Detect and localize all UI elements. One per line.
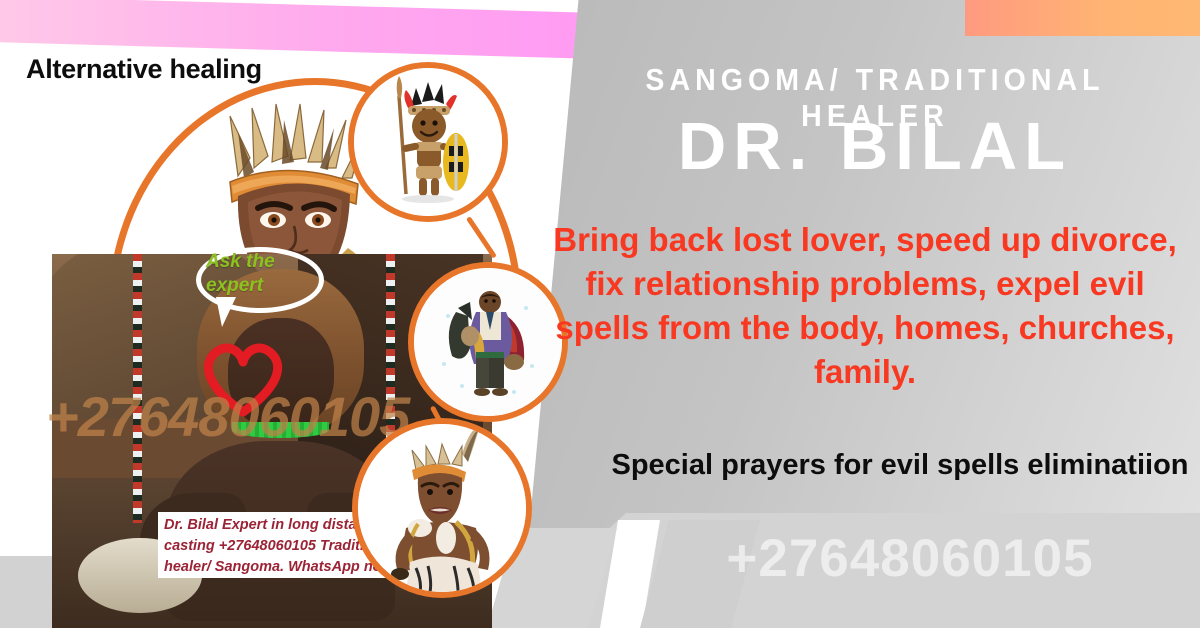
circle-caped-healer: [408, 262, 568, 422]
circle-crouching-warrior: [352, 418, 532, 598]
poster-canvas: Alternative healing: [0, 0, 1200, 628]
top-pink-bar: [0, 0, 590, 59]
phone-watermark-right: +27648060105: [620, 528, 1200, 589]
phone-watermark-over-photo: +27648060105: [46, 384, 409, 449]
speech-bubble-text: Ask the expert: [206, 250, 312, 298]
services-red-text: Bring back lost lover, speed up divorce,…: [545, 218, 1185, 394]
circle-cartoon-zulu-warrior: [348, 62, 508, 222]
top-orange-bar: [965, 0, 1200, 36]
page-title: DR. BILAL: [565, 108, 1185, 185]
services-black-text: Special prayers for evil spells eliminat…: [600, 446, 1200, 485]
bottom-left-gray-strip: [0, 556, 52, 628]
alternative-healing-label: Alternative healing: [26, 54, 262, 85]
